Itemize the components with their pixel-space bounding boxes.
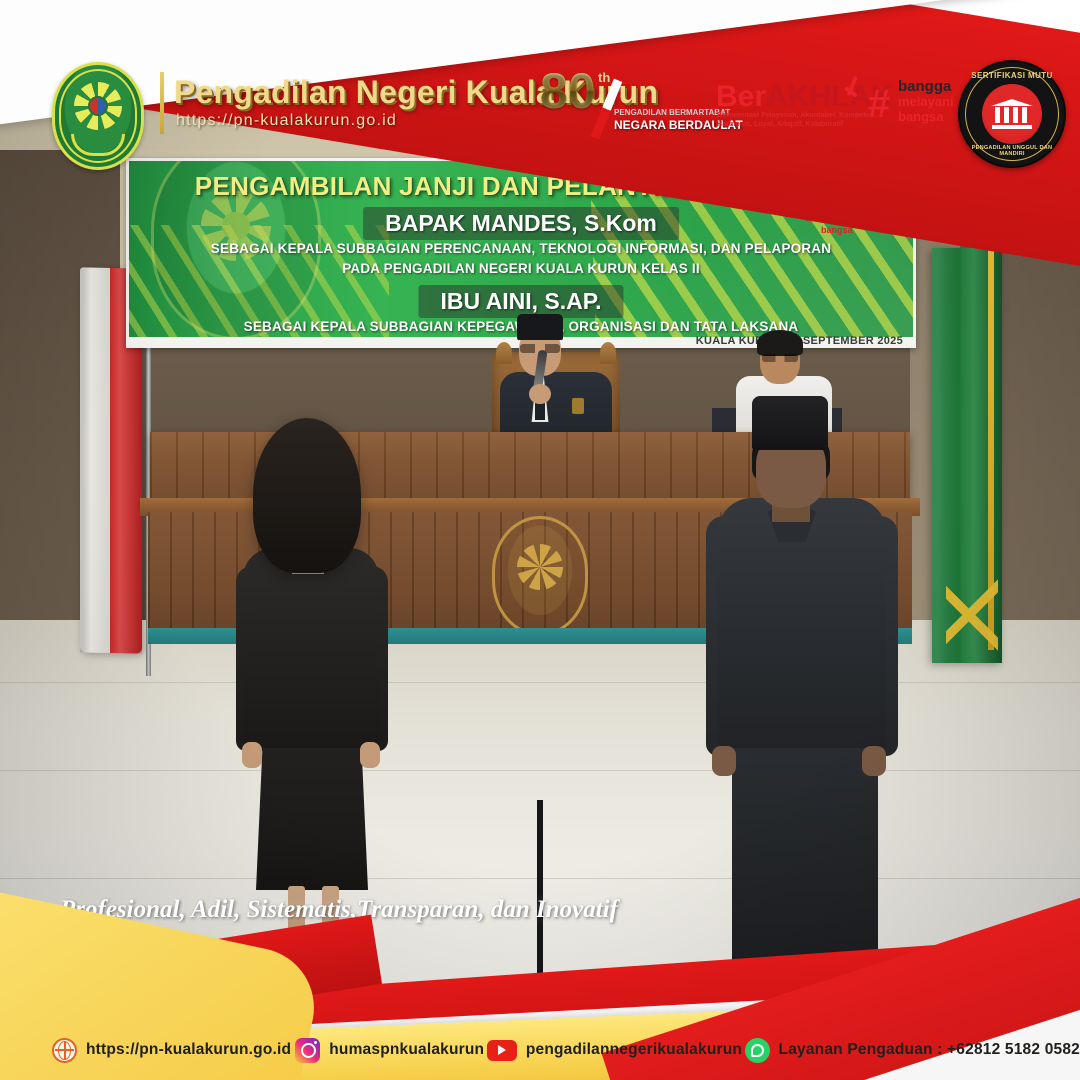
- mutu-top-text: SERTIFIKASI MUTU: [960, 71, 1064, 80]
- footer-item-youtube[interactable]: pengadilannegerikualakurun: [487, 1040, 742, 1061]
- anniversary-line1: PENGADILAN BERMARTABAT: [614, 108, 730, 117]
- footer-bar: https://pn-kualakurun.go.id humaspnkuala…: [0, 890, 1080, 1080]
- court-seal-icon: [52, 62, 144, 170]
- flag-gold-tassel: [946, 560, 998, 670]
- mutu-bottom-text: PENGADILAN UNGGUL DAN MANDIRI: [960, 145, 1064, 157]
- seated-person-glasses: [762, 354, 798, 362]
- woman-hand-left: [242, 742, 262, 768]
- footer-whatsapp-label: Layanan Pengaduan : +62812 5182 0582: [779, 1041, 1080, 1059]
- bangga-line3: bangsa: [898, 109, 944, 124]
- bangga-melayani-bangsa-logo: # bangga melayani bangsa: [868, 78, 972, 134]
- berakhlak-logo: BerAKHLAK Berorientasi Pelayanan, Akunta…: [716, 80, 866, 138]
- footer-instagram-label: humaspnkualakurun: [329, 1041, 484, 1059]
- woman-skirt: [256, 742, 368, 890]
- man-peci-cap: [752, 396, 828, 450]
- judge-hand: [529, 384, 551, 404]
- berakhlak-subtitle-line2: Harmonis, Loyal, Adaptif, Kolaboratif: [717, 119, 843, 128]
- seated-person-hair: [757, 330, 803, 356]
- footer-item-website[interactable]: https://pn-kualakurun.go.id: [52, 1038, 291, 1063]
- footer-contact-list: https://pn-kualakurun.go.id humaspnkuala…: [0, 1020, 1080, 1080]
- judge-badge: [572, 398, 584, 414]
- judge-peci-cap: [517, 314, 563, 340]
- man-hand-left: [712, 746, 736, 776]
- footer-website-label: https://pn-kualakurun.go.id: [86, 1041, 291, 1059]
- anniversary-80th-logo: 80 th PENGADILAN BERMARTABAT NEGARA BERD…: [540, 66, 716, 138]
- sertifikasi-mutu-badge: SERTIFIKASI MUTU PENGADILAN UNGGUL DAN M…: [958, 60, 1066, 168]
- bench-court-emblem: [492, 516, 588, 636]
- footer-item-instagram[interactable]: humaspnkualakurun: [295, 1038, 484, 1063]
- header-divider: [160, 72, 164, 134]
- bangga-line1: bangga: [898, 78, 951, 95]
- poster-root: PENGAMBILAN JANJI DAN PELANTIKAN JABATAN…: [0, 0, 1080, 1080]
- banner-person1-role-line1: SEBAGAI KEPALA SUBBAGIAN PERENCANAAN, TE…: [129, 241, 913, 256]
- hashtag-icon: #: [868, 84, 890, 124]
- header-website-url[interactable]: https://pn-kualakurun.go.id: [176, 112, 397, 130]
- whatsapp-icon: [745, 1038, 770, 1063]
- berakhlak-prefix: Ber: [716, 80, 766, 113]
- globe-icon: [52, 1038, 77, 1063]
- footer-youtube-label: pengadilannegerikualakurun: [526, 1041, 742, 1059]
- footer-item-whatsapp[interactable]: Layanan Pengaduan : +62812 5182 0582: [745, 1038, 1080, 1063]
- courthouse-icon: [982, 84, 1042, 144]
- banner-person1-name: BAPAK MANDES, S.Kom: [363, 207, 679, 240]
- anniversary-number: 80: [540, 66, 596, 116]
- woman-hair: [253, 418, 361, 573]
- bangga-line2: melayani: [898, 94, 954, 109]
- youtube-icon: [487, 1040, 517, 1061]
- woman-hand-right: [360, 742, 380, 768]
- woman-jacket: [243, 548, 379, 748]
- man-hand-right: [862, 746, 886, 776]
- anniversary-ordinal: th: [598, 70, 610, 85]
- instagram-icon: [295, 1038, 320, 1063]
- header-content: Pengadilan Negeri Kuala Kurun https://pn…: [0, 0, 1080, 170]
- banner-person1-role-line2: PADA PENGADILAN NEGERI KUALA KURUN KELAS…: [129, 261, 913, 276]
